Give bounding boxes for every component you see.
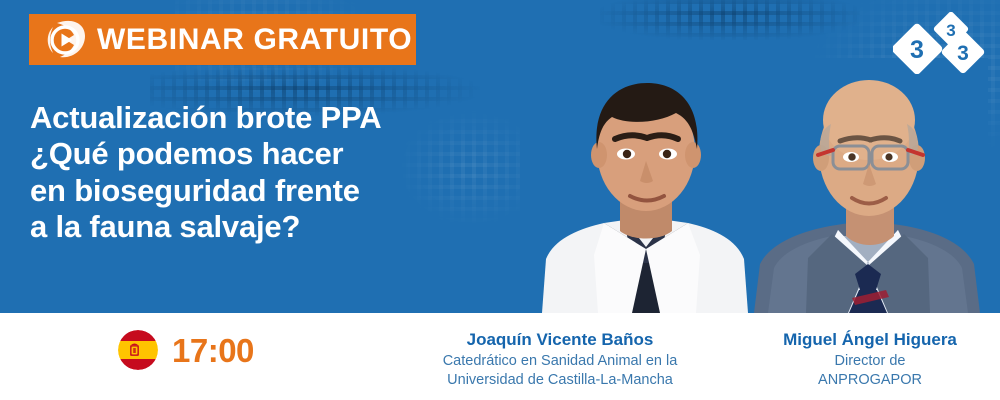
webinar-badge-label: WEBINAR GRATUITO <box>97 25 412 55</box>
headline-line-3: en bioseguridad frente <box>30 173 510 209</box>
333-logo[interactable]: 3 3 3 <box>893 12 988 74</box>
speaker-role-2: Director de ANPROGAPOR <box>740 352 1000 390</box>
speaker-photo-miguel-angel-higuera <box>748 58 988 313</box>
webinar-time: 17:00 <box>172 334 254 367</box>
banner-background: WEBINAR GRATUITO Actualización brote PPA… <box>0 0 1000 313</box>
page-title: Actualización brote PPA ¿Qué podemos hac… <box>30 100 510 245</box>
dot-texture-dark-right <box>600 0 860 40</box>
speaker-name-2: Miguel Ángel Higuera <box>740 329 1000 350</box>
webinar-badge[interactable]: WEBINAR GRATUITO <box>29 14 416 65</box>
svg-text:3: 3 <box>946 21 955 40</box>
speaker-role-1-line-1: Catedrático en Sanidad Animal en la <box>400 352 720 371</box>
speaker-info-2: Miguel Ángel Higuera Director de ANPROGA… <box>740 329 1000 391</box>
spain-flag-icon <box>118 330 158 370</box>
banner-footer: 17:00 Joaquín Vicente Baños Catedrático … <box>0 313 1000 400</box>
speaker-role-1-line-2: Universidad de Castilla-La-Mancha <box>400 371 720 390</box>
schedule-block: 17:00 <box>118 330 254 370</box>
speaker-role-2-line-2: ANPROGAPOR <box>740 371 1000 390</box>
speaker-role-2-line-1: Director de <box>740 352 1000 371</box>
speaker-role-1: Catedrático en Sanidad Animal en la Univ… <box>400 352 720 390</box>
speaker-photo-joaquin-vicente-banos <box>520 63 770 313</box>
speaker-info-1: Joaquín Vicente Baños Catedrático en San… <box>400 329 720 391</box>
speaker-name-1: Joaquín Vicente Baños <box>400 329 720 350</box>
headline-line-2: ¿Qué podemos hacer <box>30 136 510 172</box>
headline-line-1: Actualización brote PPA <box>30 100 510 136</box>
webinar-banner: WEBINAR GRATUITO Actualización brote PPA… <box>0 0 1000 400</box>
svg-text:3: 3 <box>957 42 969 65</box>
svg-text:3: 3 <box>910 36 924 64</box>
play-icon <box>43 18 89 62</box>
headline-line-4: a la fauna salvaje? <box>30 209 510 245</box>
